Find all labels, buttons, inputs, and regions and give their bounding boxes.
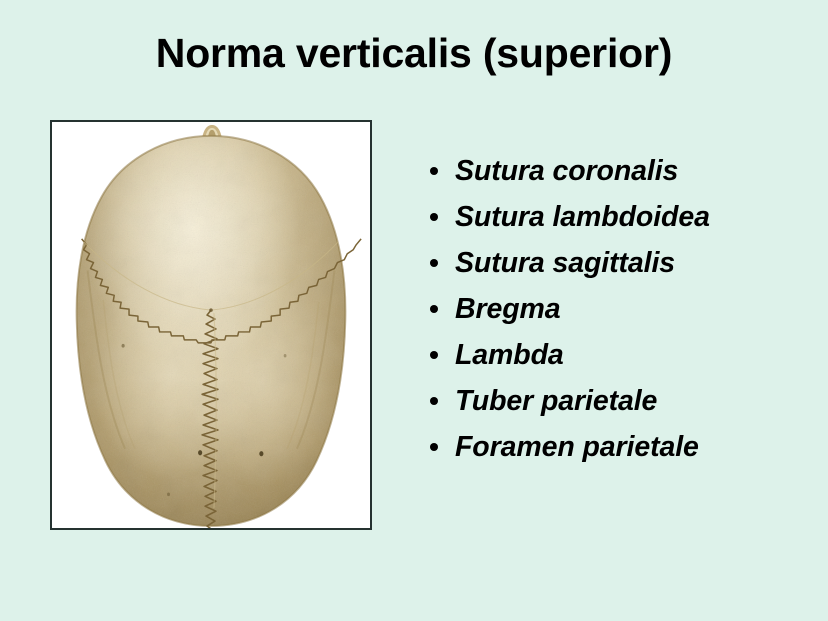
bullet-point-icon [424,378,455,424]
bullet-point-icon [424,240,455,286]
bullet-point-icon [424,194,455,240]
list-item-label: Lambda [455,332,564,378]
slide: Norma verticalis (superior) [0,0,828,621]
list-item[interactable]: Foramen parietale [424,424,820,470]
skull-superior-view-image [52,122,370,528]
surface-pit [284,354,287,357]
list-item[interactable]: Sutura coronalis [424,148,820,194]
bullet-point-icon [424,424,455,470]
list-item-label: Foramen parietale [455,424,699,470]
list-item-label: Bregma [455,286,561,332]
list-item-label: Sutura sagittalis [455,240,675,286]
list-item-label: Tuber parietale [455,378,657,424]
surface-pit [122,344,125,348]
list-item-label: Sutura coronalis [455,148,678,194]
bregma-point [209,308,213,312]
surface-pit [167,493,170,497]
bullet-point-icon [424,148,455,194]
figure-frame [50,120,372,530]
page-title: Norma verticalis (superior) [0,30,828,76]
bullet-list: Sutura coronalis Sutura lambdoidea Sutur… [424,148,820,470]
list-item[interactable]: Lambda [424,332,820,378]
list-item[interactable]: Sutura sagittalis [424,240,820,286]
bullet-point-icon [424,286,455,332]
list-item[interactable]: Tuber parietale [424,378,820,424]
foramen-parietale-left [198,450,202,455]
foramen-parietale-right [259,451,263,456]
list-item-label: Sutura lambdoidea [455,194,710,240]
list-item[interactable]: Bregma [424,286,820,332]
bullet-point-icon [424,332,455,378]
list-item[interactable]: Sutura lambdoidea [424,194,820,240]
